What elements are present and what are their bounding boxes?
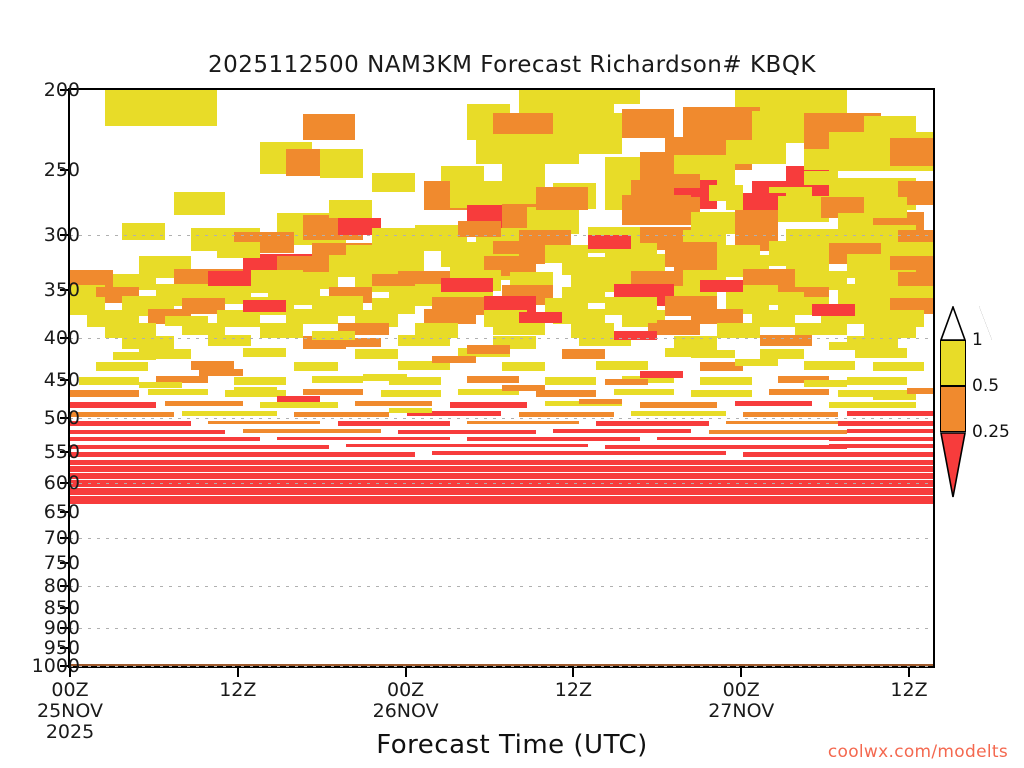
watermark-link[interactable]: coolwx.com/modelts [828,742,1008,762]
heatmap-cell [312,376,364,383]
heatmap-cell [312,331,355,340]
colorbar-over-arrow-outline [940,306,966,340]
heatmap-cell [605,379,648,385]
heatmap-cell [70,480,933,487]
y-tick-label: 750 [44,552,80,574]
heatmap-cell [432,451,725,455]
heatmap-cell [536,390,596,397]
heatmap-cell [760,292,803,304]
x-tick-mark [908,668,910,677]
heatmap-cell [329,200,372,218]
heatmap-cell [70,390,139,397]
heatmap-cell [381,390,441,397]
y-tick-label: 600 [44,472,80,494]
heatmap-cell [588,235,631,249]
heatmap-cell [847,411,933,416]
heatmap-cell [303,389,363,395]
heatmap-cell [847,377,907,385]
heatmap-cell [864,197,907,218]
heatmap-cell [545,377,597,385]
heatmap-cell [355,349,398,359]
colorbar-band[interactable] [940,340,966,386]
heatmap-cell [467,345,510,354]
x-tick-label-line: 00Z [37,680,103,701]
heatmap-cell [596,361,648,369]
gridline-1000 [70,666,933,667]
heatmap-cell [165,401,243,406]
plot-area [68,88,935,668]
heatmap-cell [372,274,415,287]
heatmap-cell [294,362,337,371]
heatmap-cell [829,402,915,408]
heatmap-cell [726,421,838,425]
x-tick-label: 12Z [219,680,256,701]
terrain-band [70,664,933,666]
x-tick-label-line: 27NOV [708,701,774,722]
y-tick-label: 350 [44,279,80,301]
heatmap-cell [139,382,182,388]
heatmap-cell [113,352,156,360]
heatmap-cell [182,411,277,415]
heatmap-cell [148,389,208,395]
heatmap-cell [622,109,674,138]
y-tick-label: 400 [44,327,80,349]
y-tick-label: 200 [44,79,80,101]
heatmap-cell [804,361,856,369]
heatmap-cell [260,402,338,408]
heatmap-cell [502,362,545,371]
heatmap-cell [657,174,700,188]
heatmap-cell [286,309,338,324]
heatmap-cell [70,445,329,449]
heatmap-cell [709,430,847,434]
heatmap-cell [536,187,588,211]
heatmap-cell [760,349,803,359]
heatmap-cell [70,473,933,479]
heatmap-cell [303,114,355,140]
heatmap-cell [596,421,708,425]
heatmap-cell [657,437,830,440]
heatmap-cell [243,348,286,357]
heatmap-cell [890,138,933,165]
heatmap-cell [769,389,829,395]
y-tick-label: 700 [44,527,80,549]
colorbar-tick-label: 0.25 [972,422,1010,442]
heatmap-cell [199,369,242,376]
heatmap-cell [277,437,450,440]
heatmap-cell [174,192,226,215]
heatmap-cell [70,421,191,425]
heatmap-cell [338,421,450,425]
y-tick-label: 650 [44,501,80,523]
heatmap-cell [571,90,623,94]
x-tick-label-line: 12Z [890,680,927,701]
x-tick-label-line: 12Z [555,680,592,701]
heatmap-cell [829,444,933,448]
heatmap-cell [467,437,640,441]
colorbar-band[interactable] [940,386,966,432]
colorbar-tick-label: 0.5 [972,376,999,396]
y-tick-label: 550 [44,441,80,463]
heatmap-cell [165,316,208,326]
heatmap-cell [243,300,286,312]
x-tick-label-line: 26NOV [373,701,439,722]
heatmap-cell [122,223,165,240]
heatmap-cell [70,488,933,495]
heatmap-cell [519,412,614,417]
heatmap-cell [372,173,415,192]
x-tick-mark [572,668,574,677]
heatmap-cell [605,445,847,449]
heatmap-cell [674,336,717,348]
heatmap-cell [571,265,614,278]
heatmap-cell [70,412,174,417]
heatmap-cell [70,430,225,434]
heatmap-cell [294,412,389,417]
heatmap-cell [234,387,277,393]
heatmap-cell [260,323,303,338]
heatmap-cell [760,335,812,346]
heatmap-cell [579,399,622,404]
page-title: 2025112500 NAM3KM Forecast Richardson# K… [0,52,1024,78]
heatmap-cell [156,90,216,116]
heatmap-cell [70,437,260,441]
heatmap-cell [208,335,251,346]
heatmap-cell [829,437,933,441]
heatmap-cell [277,396,320,402]
heatmap-cell [346,444,588,447]
heatmap-cell [812,304,855,316]
heatmap-cell [208,421,320,425]
chart-root: 2025112500 NAM3KM Forecast Richardson# K… [0,0,1024,768]
heatmap-cell [502,164,545,187]
colorbar-tick-label: 1 [972,330,983,350]
y-tick-label: 850 [44,597,80,619]
heatmap-cell [70,402,156,408]
heatmap-cell [873,394,916,400]
heatmap-cell [320,149,363,178]
heatmap-cell [398,430,536,434]
heatmap-cell [476,134,580,164]
heatmap-cell [467,421,579,425]
heatmap-cell [804,149,847,170]
y-tick-label: 800 [44,575,80,597]
heatmap-cell [502,385,545,391]
heatmap-cell [674,411,717,415]
heatmap-cell [467,376,519,383]
heatmap-cell [657,320,700,330]
heatmap-cell [70,452,415,457]
y-tick-label: 450 [44,369,80,391]
heatmap-cell [795,323,847,336]
heatmap-cell [234,377,286,385]
y-tick-label: 300 [44,224,80,246]
heatmap-cell [562,349,605,359]
heatmap-grid [70,90,933,666]
y-tick-label: 250 [44,159,80,181]
x-tick-label: 12Z [890,680,927,701]
heatmap-cell [804,380,847,386]
heatmap-cell [873,362,925,371]
heatmap-cell [70,466,933,472]
heatmap-cell [217,242,260,258]
heatmap-cell [735,359,778,367]
heatmap-cell [389,408,432,413]
heatmap-cell [717,323,760,338]
heatmap-cell [493,323,545,336]
heatmap-cell [907,388,933,394]
heatmap-cell [640,371,683,378]
heatmap-cell [363,374,406,381]
x-tick-label-line: 00Z [373,680,439,701]
heatmap-cell [450,402,528,408]
heatmap-cell [441,278,493,293]
heatmap-cell [70,496,933,504]
heatmap-cell [726,140,786,164]
heatmap-cell [79,377,139,385]
heatmap-cell [70,460,933,465]
heatmap-cell [640,402,718,408]
heatmap-cell [700,280,743,292]
x-tick-label-line: 00Z [708,680,774,701]
x-tick-mark [69,668,71,677]
x-tick-label: 00Z27NOV [708,680,774,722]
x-tick-label: 12Z [555,680,592,701]
heatmap-cell [743,452,933,457]
heatmap-cell [432,356,475,364]
heatmap-cell [743,412,838,417]
colorbar-under-arrow [940,432,966,498]
heatmap-cell [735,401,813,406]
heatmap-cell [614,389,674,395]
heatmap-cell [691,350,734,358]
heatmap-cell [847,429,933,433]
x-tick-label-line: 25NOV [37,701,103,722]
heatmap-cell [700,377,752,385]
heatmap-cell [829,342,872,351]
heatmap-cell [355,401,433,406]
heatmap-cell [243,429,381,432]
x-tick-label: 00Z26NOV [373,680,439,722]
heatmap-cell [398,335,450,346]
heatmap-cell [122,336,174,348]
x-tick-mark [237,668,239,677]
heatmap-cell [691,390,751,397]
heatmap-cell [614,331,657,340]
y-tick-label: 1000 [32,655,80,677]
x-tick-mark [405,668,407,677]
x-tick-label-line: 12Z [219,680,256,701]
heatmap-cell [96,362,148,371]
heatmap-cell [519,312,562,323]
heatmap-cell [553,429,691,432]
heatmap-cell [838,421,933,425]
heatmap-cell [424,309,476,324]
heatmap-cell [458,221,501,238]
colorbar-legend[interactable]: 10.50.25 [940,300,1022,500]
x-tick-mark [740,668,742,677]
y-tick-label: 500 [44,407,80,429]
